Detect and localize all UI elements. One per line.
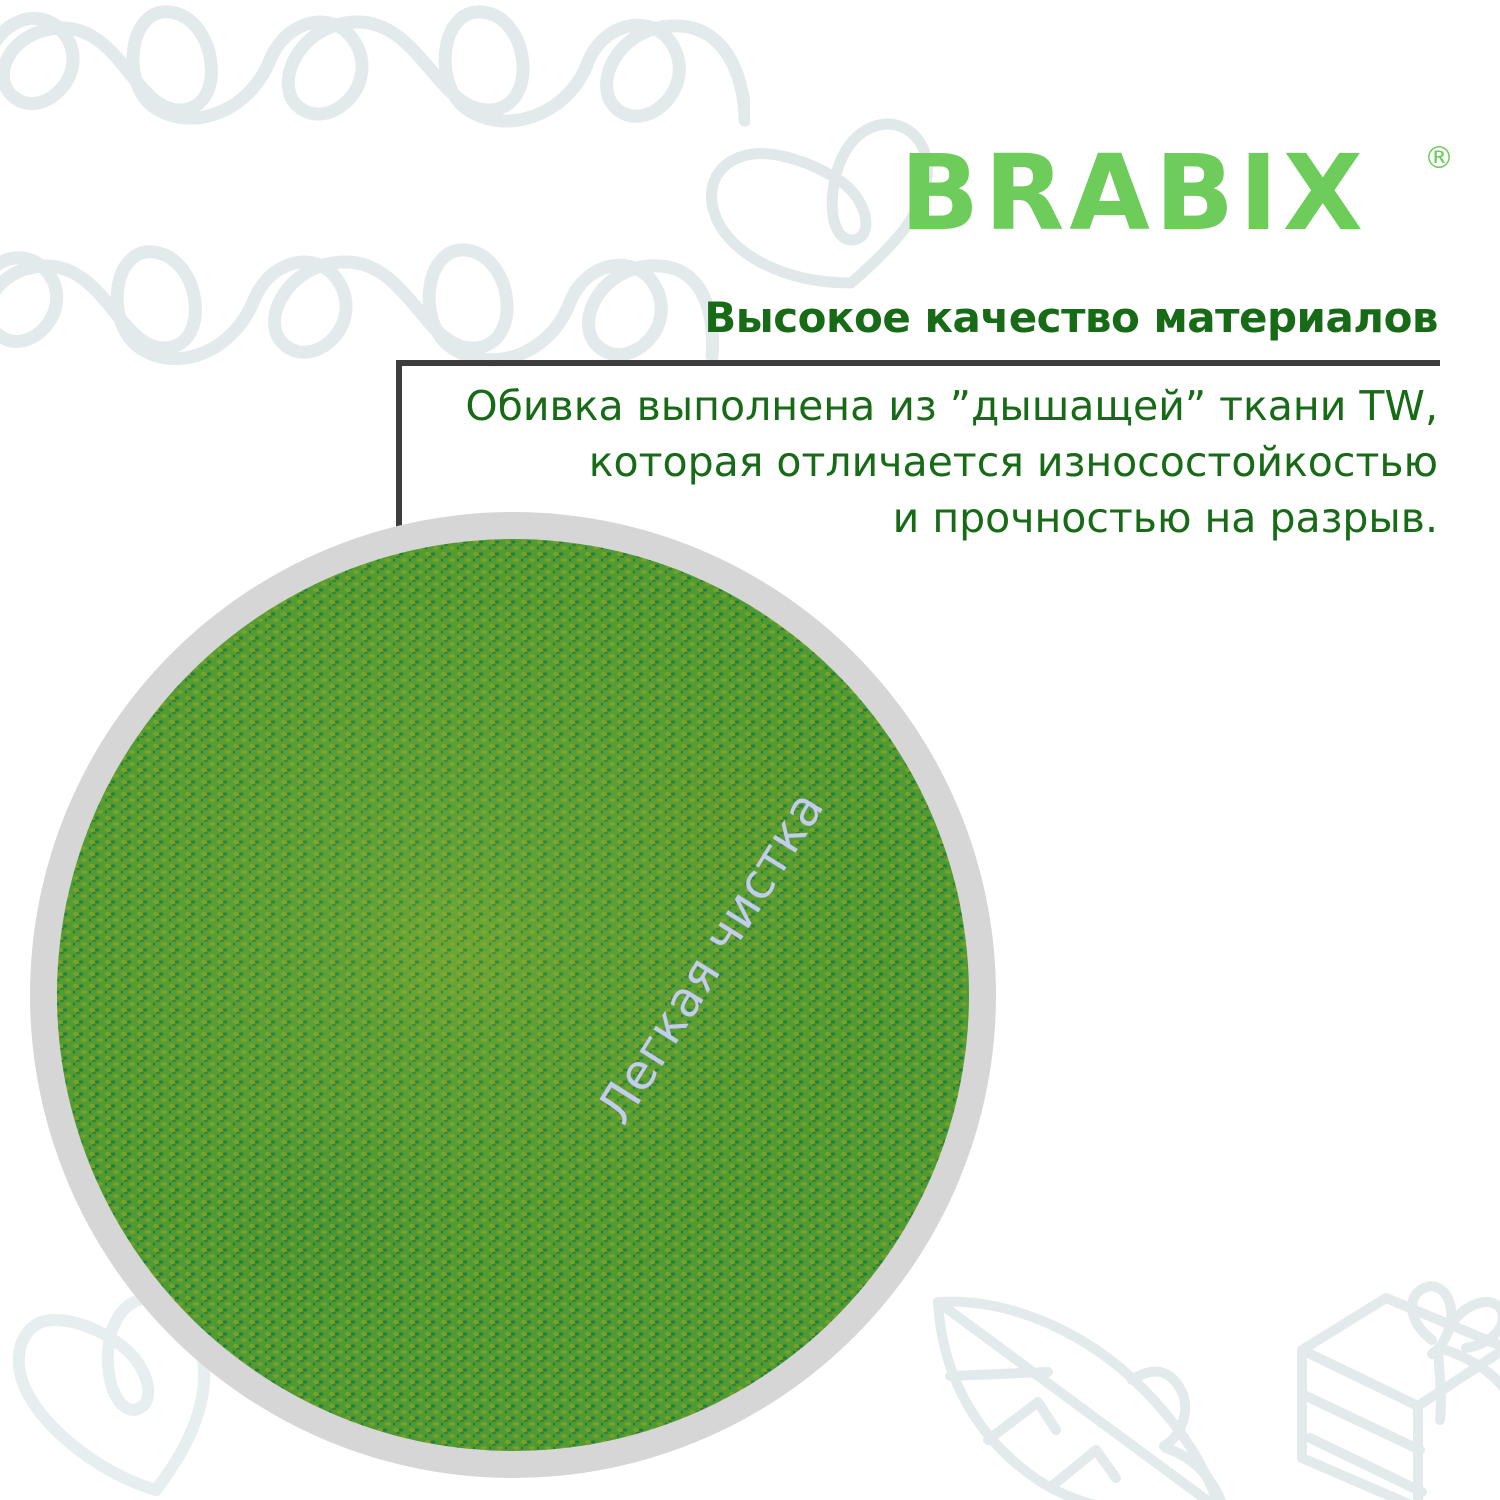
brand-logo-text: BRABIX [900, 138, 1448, 248]
callout-rule [396, 360, 1440, 366]
gift-box-bottom-right-doodle [1290, 1278, 1500, 1500]
spiral-loops-row-top-doodle [0, 0, 750, 190]
fabric-swatch-texture [57, 539, 969, 1451]
infographic-canvas: BRABIX ® Высокое качество материалов Оби… [0, 0, 1500, 1500]
headline: Высокое качество материалов [378, 293, 1438, 342]
fabric-swatch-sheen [57, 539, 969, 1451]
fabric-swatch-ring [30, 512, 996, 1478]
brand-logo: BRABIX ® [900, 138, 1448, 248]
body-copy-line: которая отличается износостойкостью [418, 434, 1438, 490]
body-copy-line: Обивка выполнена из ”дышащей” ткани TW, [418, 378, 1438, 434]
feather-bottom-right-doodle [920, 1280, 1280, 1500]
registered-trademark-icon: ® [1424, 144, 1454, 174]
